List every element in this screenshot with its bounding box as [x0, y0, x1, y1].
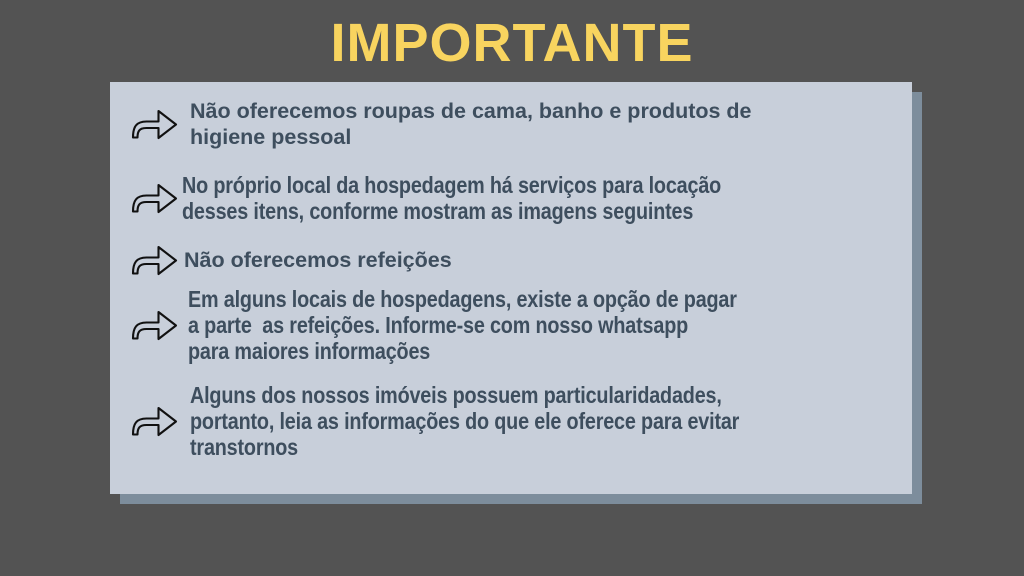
slide-canvas: IMPORTANTE Não oferecemos roupas de cama…: [0, 0, 1024, 576]
list-item-label: Não oferecemos roupas de cama, banho e p…: [190, 98, 898, 150]
list-item-label: Alguns dos nossos imóveis possuem partic…: [190, 382, 807, 460]
list-item-label: No próprio local da hospedagem há serviç…: [182, 172, 802, 224]
list-item-label: Não oferecemos refeições: [184, 247, 728, 273]
list-item: No próprio local da hospedagem há serviç…: [128, 172, 903, 224]
curved-right-arrow-icon: [128, 104, 180, 144]
content-panel: Não oferecemos roupas de cama, banho e p…: [110, 82, 912, 494]
list-item: Não oferecemos roupas de cama, banho e p…: [128, 98, 898, 150]
curved-right-arrow-icon: [128, 178, 180, 218]
curved-right-arrow-icon: [128, 401, 180, 441]
list-item: Alguns dos nossos imóveis possuem partic…: [128, 382, 908, 460]
page-title: IMPORTANTE: [0, 13, 1024, 73]
curved-right-arrow-icon: [128, 240, 180, 280]
curved-right-arrow-icon: [128, 305, 180, 345]
list-item: Em alguns locais de hospedagens, existe …: [128, 286, 908, 364]
list-item: Não oferecemos refeições: [128, 240, 728, 280]
list-item-label: Em alguns locais de hospedagens, existe …: [188, 286, 807, 364]
